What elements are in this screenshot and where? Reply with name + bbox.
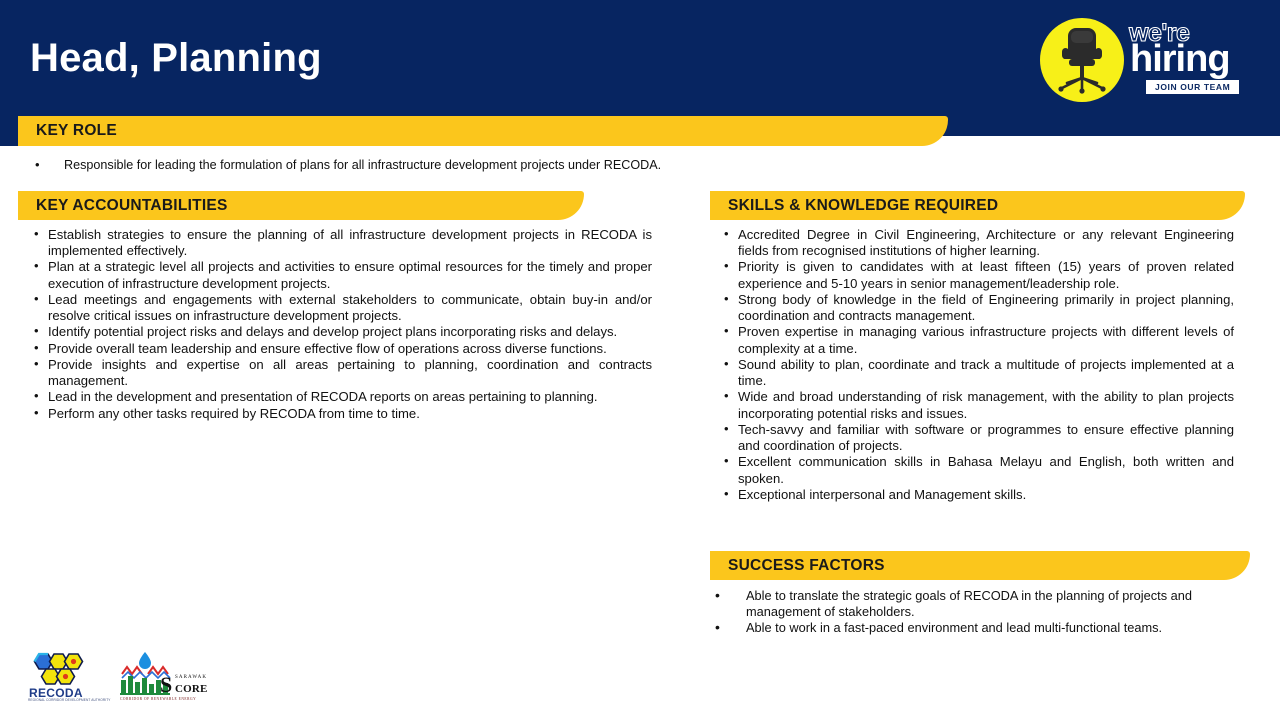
key-role-heading: KEY ROLE <box>36 122 117 140</box>
skills-knowledge-heading: SKILLS & KNOWLEDGE REQUIRED <box>728 197 998 215</box>
success-factors-list: Able to translate the strategic goals of… <box>710 588 1240 636</box>
key-role-navy-tab <box>0 116 18 146</box>
recoda-subtitle: REGIONAL CORRIDOR DEVELOPMENT AUTHORITY <box>28 698 111 702</box>
list-item: Plan at a strategic level all projects a… <box>32 259 652 291</box>
list-item: Accredited Degree in Civil Engineering, … <box>722 227 1234 259</box>
page-title: Head, Planning <box>30 36 322 80</box>
list-item: Priority is given to candidates with at … <box>722 259 1234 291</box>
list-item: Lead in the development and presentation… <box>32 389 652 405</box>
section-header-success-factors: SUCCESS FACTORS <box>710 551 1250 580</box>
list-item: Strong body of knowledge in the field of… <box>722 292 1234 324</box>
list-item: Responsible for leading the formulation … <box>32 158 932 174</box>
hiring-text: hiring <box>1130 42 1266 77</box>
score-subtitle: CORRIDOR OF RENEWABLE ENERGY <box>120 697 196 701</box>
list-item: Establish strategies to ensure the plann… <box>32 227 652 259</box>
recoda-logo: RECODA REGIONAL CORRIDOR DEVELOPMENT AUT… <box>26 652 92 704</box>
list-item: Provide overall team leadership and ensu… <box>32 341 652 357</box>
sarawak-score-logo: S SARAWAK CORE CORRIDOR OF RENEWABLE ENE… <box>118 650 208 706</box>
office-chair-icon <box>1054 26 1110 96</box>
section-header-key-role: KEY ROLE <box>18 116 948 146</box>
list-item: Wide and broad understanding of risk man… <box>722 389 1234 421</box>
list-item: Identify potential project risks and del… <box>32 324 652 340</box>
list-item: Lead meetings and engagements with exter… <box>32 292 652 324</box>
key-accountabilities-heading: KEY ACCOUNTABILITIES <box>36 197 228 215</box>
section-header-skills-knowledge: SKILLS & KNOWLEDGE REQUIRED <box>710 191 1245 220</box>
list-item: Provide insights and expertise on all ar… <box>32 357 652 389</box>
list-item: Perform any other tasks required by RECO… <box>32 406 652 422</box>
key-accountabilities-list: Establish strategies to ensure the plann… <box>32 227 652 422</box>
list-item: Sound ability to plan, coordinate and tr… <box>722 357 1234 389</box>
list-item: Able to translate the strategic goals of… <box>710 588 1240 620</box>
list-item: Excellent communication skills in Bahasa… <box>722 454 1234 486</box>
footer-logo-group: RECODA REGIONAL CORRIDOR DEVELOPMENT AUT… <box>22 650 222 710</box>
success-factors-heading: SUCCESS FACTORS <box>728 557 885 575</box>
list-item: Tech-savvy and familiar with software or… <box>722 422 1234 454</box>
section-header-key-accountabilities: KEY ACCOUNTABILITIES <box>18 191 584 220</box>
score-sarawak-text: SARAWAK <box>175 675 207 680</box>
we-are-hiring-logo: we're hiring JOIN OUR TEAM <box>1040 18 1266 102</box>
list-item: Exceptional interpersonal and Management… <box>722 487 1234 503</box>
list-item: Proven expertise in managing various inf… <box>722 324 1234 356</box>
join-our-team-badge: JOIN OUR TEAM <box>1146 80 1239 94</box>
skills-knowledge-list: Accredited Degree in Civil Engineering, … <box>722 227 1234 503</box>
list-item: Able to work in a fast-paced environment… <box>710 620 1240 636</box>
recoda-hexagon-icon <box>26 652 92 686</box>
score-s-letter: S <box>160 674 172 696</box>
key-role-list: Responsible for leading the formulation … <box>32 158 932 174</box>
score-core-text: CORE <box>175 683 208 695</box>
